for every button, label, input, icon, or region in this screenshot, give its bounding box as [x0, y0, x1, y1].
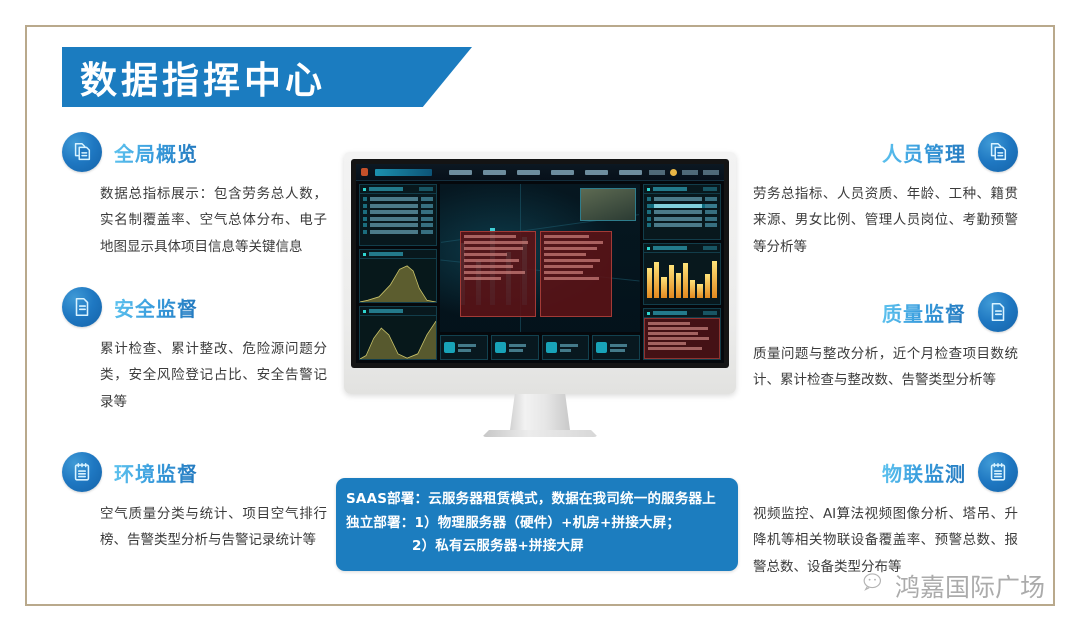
page-title-banner: 数据指挥中心 [62, 47, 472, 107]
table-row [647, 204, 717, 208]
feature-description: 累计检查、累计整改、危险源问题分类，安全风险登记占比、安全告警记录等 [62, 336, 327, 415]
wechat-icon [862, 571, 888, 602]
document-lines-icon [62, 287, 102, 327]
table-row [647, 210, 717, 214]
page-title: 数据指挥中心 [62, 50, 326, 104]
callout-line-private-cloud: 2）私有云服务器+拼接大屏 [346, 535, 728, 559]
area-chart [360, 259, 436, 302]
dashboard-nav-item [517, 170, 540, 175]
kpi-icon [596, 342, 607, 353]
dashboard-logo-icon [361, 168, 368, 176]
dashboard-area-chart-panel-2 [359, 306, 437, 360]
list-item [363, 204, 433, 208]
feature-header: 全局概览 [62, 130, 327, 174]
table-row [647, 217, 717, 221]
dashboard-body [356, 181, 724, 363]
dashboard-left-column [359, 184, 437, 360]
dashboard-map [440, 184, 640, 332]
poster-page: 数据指挥中心 全局概览 数据总指标展示：包含劳务总人数，实名制覆盖率、空气总体分… [0, 0, 1080, 631]
kpi-icon [546, 342, 557, 353]
feature-description: 空气质量分类与统计、项目空气排行榜、告警类型分析与告警记录统计等 [62, 501, 327, 554]
area-chart [360, 316, 436, 359]
dashboard-topbar [356, 164, 724, 181]
dashboard-nav-item [483, 170, 506, 175]
dashboard-bar-chart-panel [643, 243, 721, 305]
feature-block-quality: 质量监督 质量问题与整改分析，近个月检查项目数统计、累计检查与整改数、告警类型分… [753, 290, 1018, 394]
documents-copy-icon [62, 132, 102, 172]
feature-description: 质量问题与整改分析，近个月检查项目数统计、累计检查与整改数、告警类型分析等 [753, 341, 1018, 394]
panel-header [644, 185, 720, 194]
feature-title: 质量监督 [882, 298, 966, 327]
panel-header [644, 309, 720, 318]
panel-header [644, 244, 720, 253]
list-item [363, 230, 433, 234]
table-row [647, 223, 717, 227]
feature-block-safety: 安全监督 累计检查、累计整改、危险源问题分类，安全风险登记占比、安全告警记录等 [62, 285, 327, 415]
list-item [363, 197, 433, 201]
table-row [647, 197, 717, 201]
kpi-card [491, 335, 539, 360]
map-camera-thumbnail [580, 188, 636, 221]
deployment-callout-box: SAAS部署：云服务器租赁模式，数据在我司统一的服务器上 独立部署：1）物理服务… [336, 478, 738, 571]
list-item [363, 223, 433, 227]
callout-line-standalone: 独立部署：1）物理服务器（硬件）+机房+拼接大屏； [346, 512, 728, 536]
clipboard-icon [978, 452, 1018, 492]
feature-block-environment: 环境监督 空气质量分类与统计、项目空气排行榜、告警类型分析与告警记录统计等 [62, 450, 327, 554]
dashboard-clock [649, 170, 665, 175]
list-item [363, 210, 433, 214]
panel-header [360, 185, 436, 194]
feature-title: 环境监督 [114, 458, 198, 487]
document-lines-icon [978, 292, 1018, 332]
callout-line-saas: SAAS部署：云服务器租赁模式，数据在我司统一的服务器上 [346, 488, 728, 512]
monitor-bezel [351, 159, 729, 368]
watermark-text: 鸿嘉国际广场 [895, 568, 1045, 604]
dashboard-nav-item [551, 170, 574, 175]
dashboard-kpi-row [440, 335, 640, 360]
map-info-card-left [460, 231, 536, 317]
monitor-stand-foot [482, 430, 598, 437]
monitor-body [344, 152, 736, 394]
feature-block-personnel: 人员管理 劳务总指标、人员资质、年龄、工种、籍贯来源、男女比例、管理人员岗位、考… [753, 130, 1018, 260]
dashboard-brand-title [375, 169, 432, 176]
dashboard-monitor [344, 152, 736, 437]
feature-description: 数据总指标展示：包含劳务总人数，实名制覆盖率、空气总体分布、电子地图显示具体项目… [62, 181, 327, 260]
dashboard-nav-item [619, 170, 642, 175]
panel-header [360, 250, 436, 259]
watermark: 鸿嘉国际广场 [862, 568, 1045, 604]
feature-title: 安全监督 [114, 293, 198, 322]
feature-block-iot: 物联监测 视频监控、AI算法视频图像分析、塔吊、升降机等相关物联设备覆盖率、预警… [753, 450, 1018, 580]
kpi-card [592, 335, 640, 360]
feature-header: 人员管理 [753, 130, 1018, 174]
dashboard-project-list-panel [359, 184, 437, 246]
dashboard-nav-item [449, 170, 472, 175]
feature-description: 劳务总指标、人员资质、年龄、工种、籍贯来源、男女比例、管理人员岗位、考勤预警等分… [753, 181, 1018, 260]
panel-rows [644, 194, 720, 230]
dashboard-menu [703, 170, 719, 175]
dashboard-weather-icon [670, 169, 677, 176]
bar-chart [644, 253, 720, 304]
feature-title: 物联监测 [882, 458, 966, 487]
feature-header: 环境监督 [62, 450, 327, 494]
feature-header: 安全监督 [62, 285, 327, 329]
feature-block-overview: 全局概览 数据总指标展示：包含劳务总人数，实名制覆盖率、空气总体分布、电子地图显… [62, 130, 327, 260]
list-item [363, 217, 433, 221]
dashboard-alert-panel [643, 308, 721, 360]
kpi-card [542, 335, 590, 360]
dashboard-nav-item [585, 170, 608, 175]
kpi-icon [495, 342, 506, 353]
monitor-stand-neck [510, 394, 570, 430]
feature-header: 物联监测 [753, 450, 1018, 494]
kpi-icon [444, 342, 455, 353]
dashboard-nav [449, 170, 642, 175]
alert-list [644, 318, 720, 359]
panel-rows [360, 194, 436, 237]
feature-title: 全局概览 [114, 138, 198, 167]
kpi-card [440, 335, 488, 360]
dashboard-status-area [649, 169, 719, 176]
dashboard-right-column [643, 184, 721, 360]
dashboard-ranking-panel [643, 184, 721, 240]
dashboard-user [682, 170, 698, 175]
dashboard-area-chart-panel-1 [359, 249, 437, 303]
clipboard-icon [62, 452, 102, 492]
feature-title: 人员管理 [882, 138, 966, 167]
dashboard-center-column [440, 184, 640, 360]
panel-header [360, 307, 436, 316]
map-info-card-right [540, 231, 612, 317]
feature-header: 质量监督 [753, 290, 1018, 334]
documents-copy-icon [978, 132, 1018, 172]
dashboard-screen [356, 164, 724, 363]
